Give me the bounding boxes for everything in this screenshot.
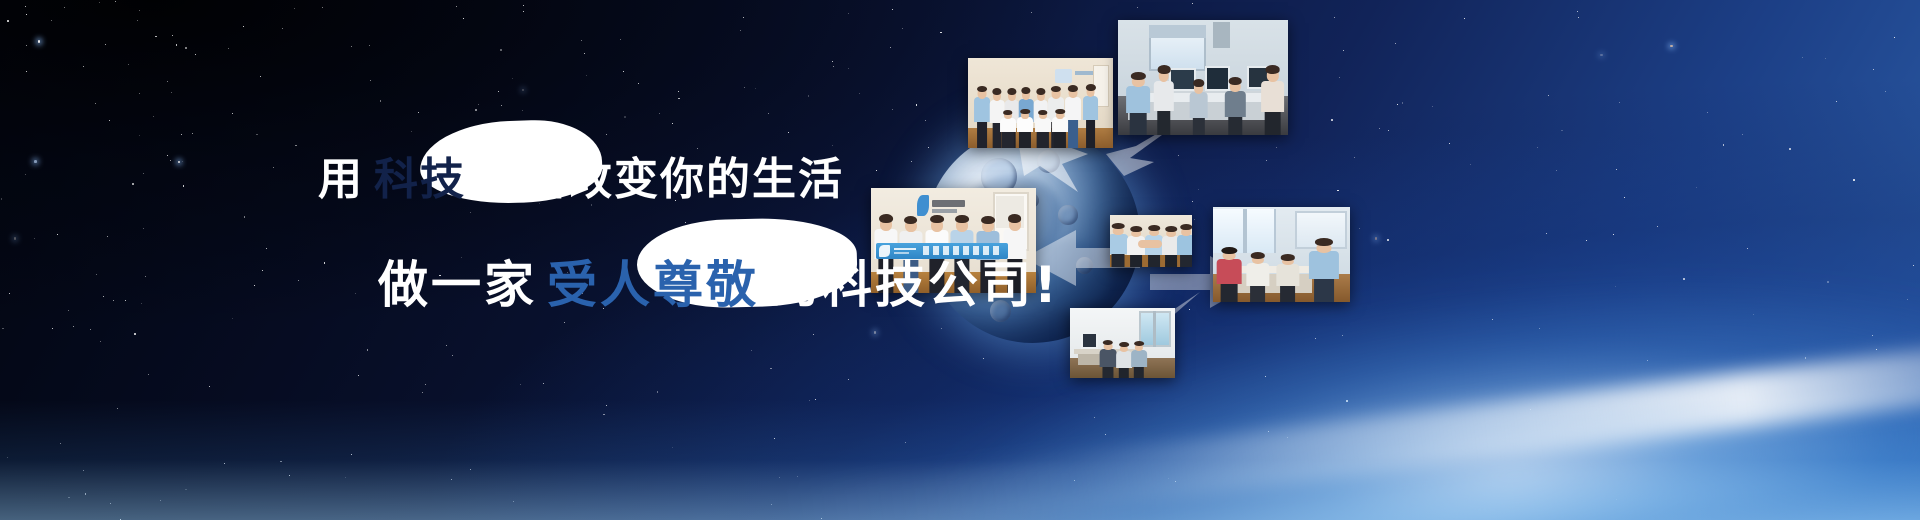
photo-handshake[interactable] <box>1110 215 1192 267</box>
photo-office-desks[interactable] <box>1118 20 1288 135</box>
photo-team-group[interactable] <box>968 58 1113 148</box>
photo-banner-text <box>876 243 1008 260</box>
photo-banner-team[interactable] <box>871 188 1036 293</box>
banner-stage: 用科技逐渐改变你的生活 做一家受人尊敬的科技公司! <box>0 0 1920 520</box>
photo-training-room[interactable] <box>1070 308 1175 378</box>
photo-meeting-desk[interactable] <box>1213 207 1350 302</box>
